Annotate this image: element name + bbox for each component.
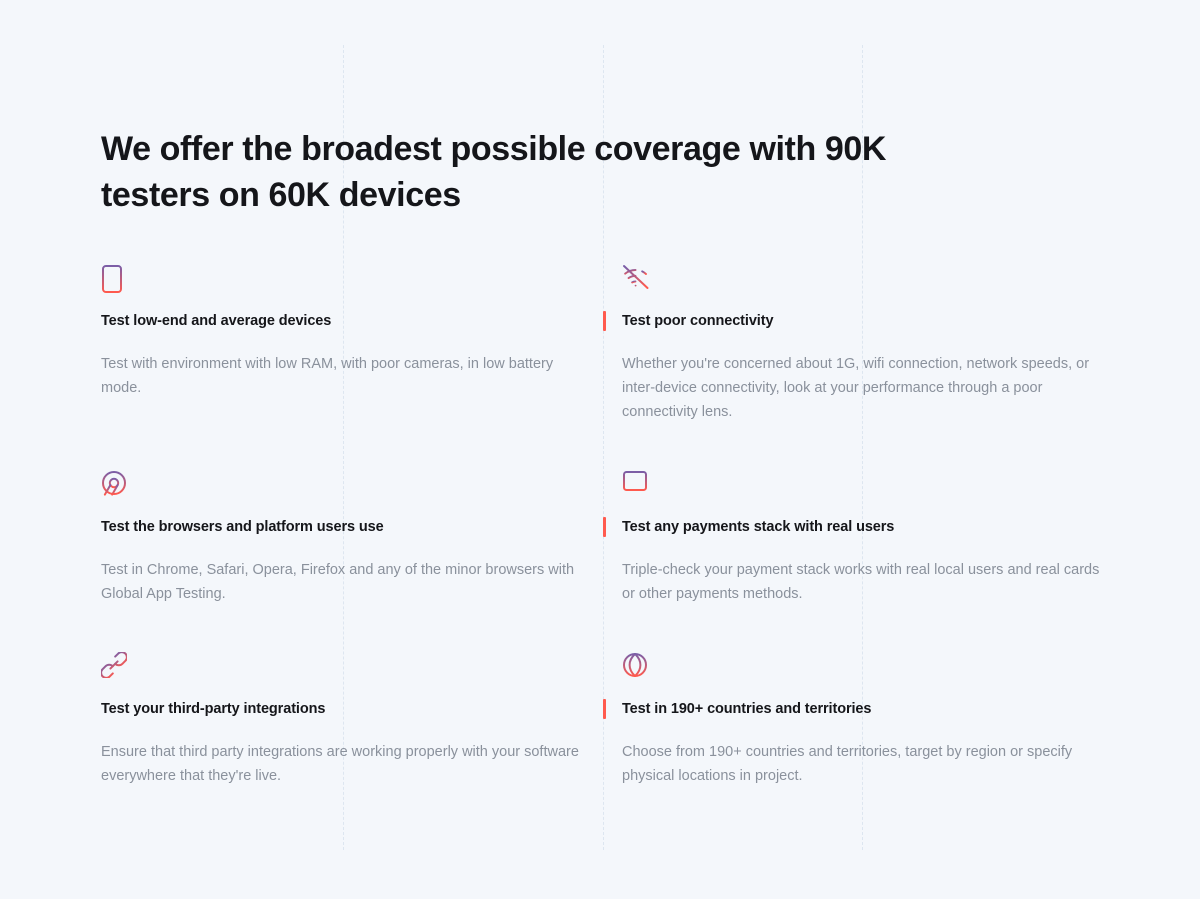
feature-card: Test your third-party integrations Ensur… [101,652,601,834]
feature-title: Test poor connectivity [622,311,773,331]
feature-section-page: We offer the broadest possible coverage … [0,0,1200,899]
feature-title-row: Test your third-party integrations [101,698,601,720]
feature-grid: Test low-end and average devices Test wi… [101,264,1101,834]
feature-card: Test in 190+ countries and territories C… [622,652,1122,834]
page-title: We offer the broadest possible coverage … [101,126,891,218]
feature-title-row: Test in 190+ countries and territories [622,698,1122,720]
chrome-icon [101,470,601,504]
feature-description: Whether you're concerned about 1G, wifi … [622,352,1102,424]
globe-icon [622,652,1122,686]
feature-card: Test the browsers and platform users use… [101,470,601,652]
wifi-off-icon [622,264,1122,298]
feature-title-row: Test low-end and average devices [101,310,601,332]
feature-card: Test any payments stack with real users … [622,470,1122,652]
feature-title: Test in 190+ countries and territories [622,699,871,719]
accent-bar [603,699,606,719]
feature-title-row: Test the browsers and platform users use [101,516,601,538]
feature-description: Ensure that third party integrations are… [101,740,579,788]
smartphone-icon [101,264,601,298]
feature-title: Test your third-party integrations [101,699,325,719]
link-chain-icon [101,652,601,686]
feature-description: Choose from 190+ countries and territori… [622,740,1102,788]
accent-bar [603,517,606,537]
feature-description: Test with environment with low RAM, with… [101,352,579,400]
feature-title-row: Test poor connectivity [622,310,1122,332]
credit-card-icon [622,470,1122,504]
feature-title: Test low-end and average devices [101,311,331,331]
content-container: We offer the broadest possible coverage … [101,0,1101,834]
feature-description: Triple-check your payment stack works wi… [622,558,1102,606]
feature-title-row: Test any payments stack with real users [622,516,1122,538]
feature-card: Test poor connectivity Whether you're co… [622,264,1122,470]
feature-description: Test in Chrome, Safari, Opera, Firefox a… [101,558,579,606]
feature-title: Test the browsers and platform users use [101,517,384,537]
feature-title: Test any payments stack with real users [622,517,894,537]
feature-card: Test low-end and average devices Test wi… [101,264,601,470]
accent-bar [603,311,606,331]
